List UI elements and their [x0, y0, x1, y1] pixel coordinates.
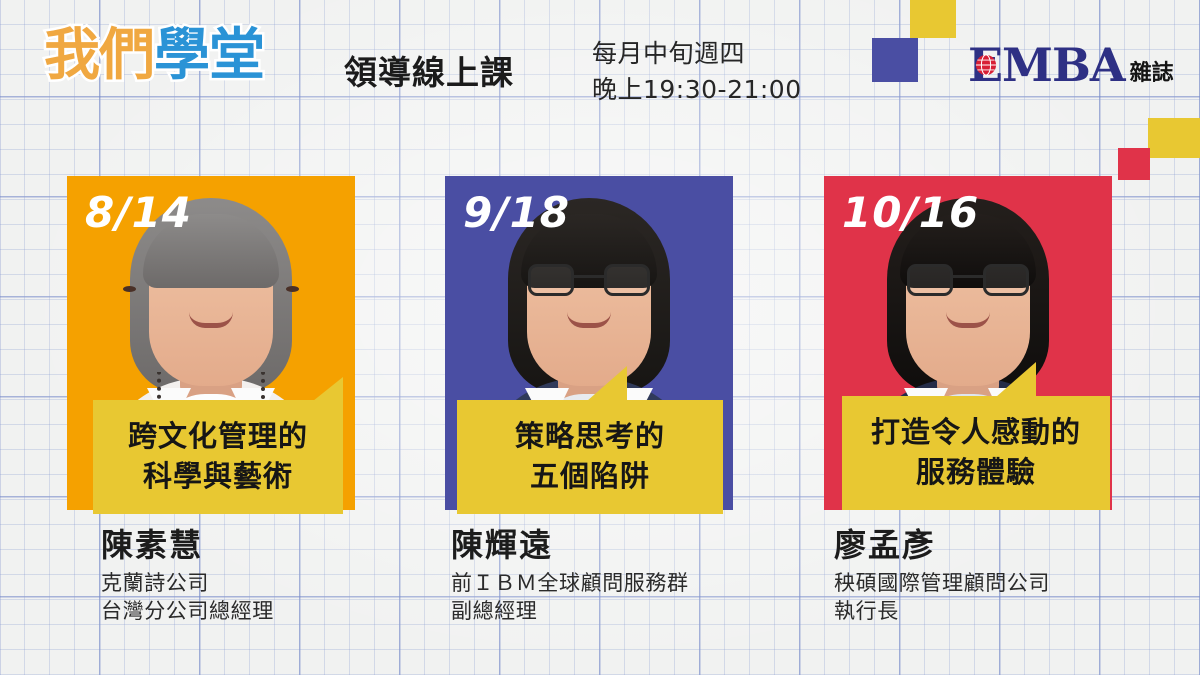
speaker-card[interactable]: 10/16: [824, 176, 1112, 510]
publisher-sub-label: 雜誌: [1130, 63, 1174, 85]
schedule-time-line: 晚上19:30-21:00: [592, 72, 802, 108]
session-title-line-two: 科學與藝術: [93, 456, 343, 496]
speaker-info-block: 陳輝遠 前ＩＢＭ全球顧問服務群 副總經理: [451, 528, 781, 626]
session-date-badge: 8/14: [85, 192, 192, 234]
session-title-banner: 跨文化管理的 科學與藝術: [93, 400, 343, 514]
session-title-banner: 策略思考的 五個陷阱: [457, 400, 723, 514]
session-title-line-one: 跨文化管理的: [93, 416, 343, 456]
session-title-line-one: 策略思考的: [457, 416, 723, 456]
publisher-wordmark-text: EMBA: [968, 42, 1125, 88]
portrait-eyeglasses: [907, 264, 1029, 298]
speaker-org-line-two: 副總經理: [451, 597, 781, 626]
speaker-org-line-two: 執行長: [834, 597, 1164, 626]
promotional-poster: 我們 學堂 領導線上課 每月中旬週四 晚上19:30-21:00 EMBA 雜誌: [0, 0, 1200, 675]
publisher-logo: EMBA 雜誌: [968, 42, 1174, 88]
schedule-block: 每月中旬週四 晚上19:30-21:00: [592, 36, 802, 107]
speaker-org-line-one: 前ＩＢＭ全球顧問服務群: [451, 569, 781, 598]
session-title-banner: 打造令人感動的 服務體驗: [842, 396, 1110, 510]
speaker-card[interactable]: 9/18: [445, 176, 733, 510]
speaker-org-line-one: 秧碩國際管理顧問公司: [834, 569, 1164, 598]
speaker-name: 陳輝遠: [451, 528, 781, 564]
speaker-info-block: 廖孟彥 秧碩國際管理顧問公司 執行長: [834, 528, 1164, 626]
eyeglass-lens-left: [907, 264, 953, 296]
speaker-card[interactable]: 8/14 跨文化管理的: [67, 176, 355, 510]
session-title-line-two: 服務體驗: [842, 452, 1110, 492]
eyeglass-lens-left: [528, 264, 574, 296]
brand-logo: 我們 學堂: [44, 28, 264, 84]
portrait-eye-left: [123, 286, 136, 292]
speaker-org-line-one: 克蘭詩公司: [101, 569, 421, 598]
eyeglass-lens-right: [983, 264, 1029, 296]
speaker-name: 廖孟彥: [834, 528, 1164, 564]
speaker-org-line-two: 台灣分公司總經理: [101, 597, 421, 626]
brand-logo-part-two: 學堂: [154, 28, 264, 84]
portrait-eye-right: [286, 286, 299, 292]
decorative-square-red-right: [1118, 148, 1150, 180]
portrait-eyeglasses: [528, 264, 650, 298]
eyeglass-lens-right: [604, 264, 650, 296]
session-title-line-two: 五個陷阱: [457, 456, 723, 496]
eyeglass-bridge: [953, 275, 983, 278]
session-date-badge: 10/16: [842, 192, 979, 234]
schedule-day-line: 每月中旬週四: [592, 36, 802, 72]
speaker-info-block: 陳素慧 克蘭詩公司 台灣分公司總經理: [101, 528, 421, 626]
speaker-name: 陳素慧: [101, 528, 421, 564]
course-tagline: 領導線上課: [344, 56, 514, 89]
session-date-badge: 9/18: [463, 192, 570, 234]
brand-logo-part-one: 我們: [44, 28, 154, 84]
globe-icon: [975, 54, 997, 76]
poster-header: 我們 學堂 領導線上課 每月中旬週四 晚上19:30-21:00 EMBA 雜誌: [0, 0, 1200, 150]
eyeglass-bridge: [574, 275, 604, 278]
session-title-line-one: 打造令人感動的: [842, 412, 1110, 452]
